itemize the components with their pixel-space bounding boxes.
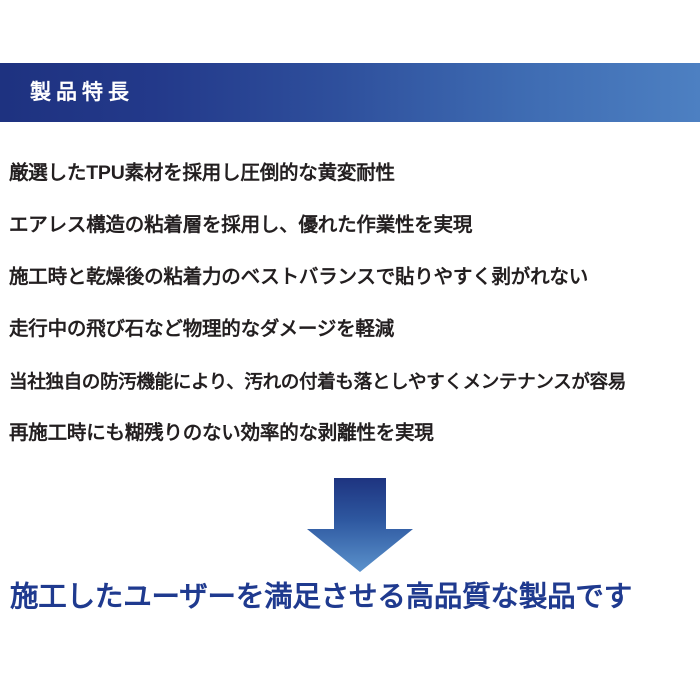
product-features-page: 製品特長 厳選したTPU素材を採用し圧倒的な黄変耐性 エアレス構造の粘着層を採用… [0,0,700,700]
list-item: 再施工時にも糊残りのない効率的な剥離性を実現 [9,408,697,460]
page-title: 製品特長 [30,82,134,103]
list-item: 厳選したTPU素材を採用し圧倒的な黄変耐性 [9,148,697,200]
feature-text: 当社独自の防汚機能により、汚れの付着も落としやすくメンテナンスが容易 [9,373,626,392]
feature-text: 厳選したTPU素材を採用し圧倒的な黄変耐性 [9,164,395,184]
list-item: エアレス構造の粘着層を採用し、優れた作業性を実現 [9,200,697,252]
feature-text: エアレス構造の粘着層を採用し、優れた作業性を実現 [9,216,472,236]
list-item: 当社独自の防汚機能により、汚れの付着も落としやすくメンテナンスが容易 [9,356,697,408]
section-header-banner: 製品特長 [0,63,700,122]
list-item: 施工時と乾燥後の粘着力のベストバランスで貼りやすく剥がれない [9,252,697,304]
feature-list: 厳選したTPU素材を採用し圧倒的な黄変耐性 エアレス構造の粘着層を採用し、優れた… [9,148,697,460]
conclusion-headline: 施工したユーザーを満足させる高品質な製品です [10,580,700,614]
feature-text: 走行中の飛び石など物理的なダメージを軽減 [9,320,394,340]
feature-text: 再施工時にも糊残りのない効率的な剥離性を実現 [9,424,434,444]
arrow-down-icon [305,472,417,574]
list-item: 走行中の飛び石など物理的なダメージを軽減 [9,304,697,356]
feature-text: 施工時と乾燥後の粘着力のベストバランスで貼りやすく剥がれない [9,268,588,288]
